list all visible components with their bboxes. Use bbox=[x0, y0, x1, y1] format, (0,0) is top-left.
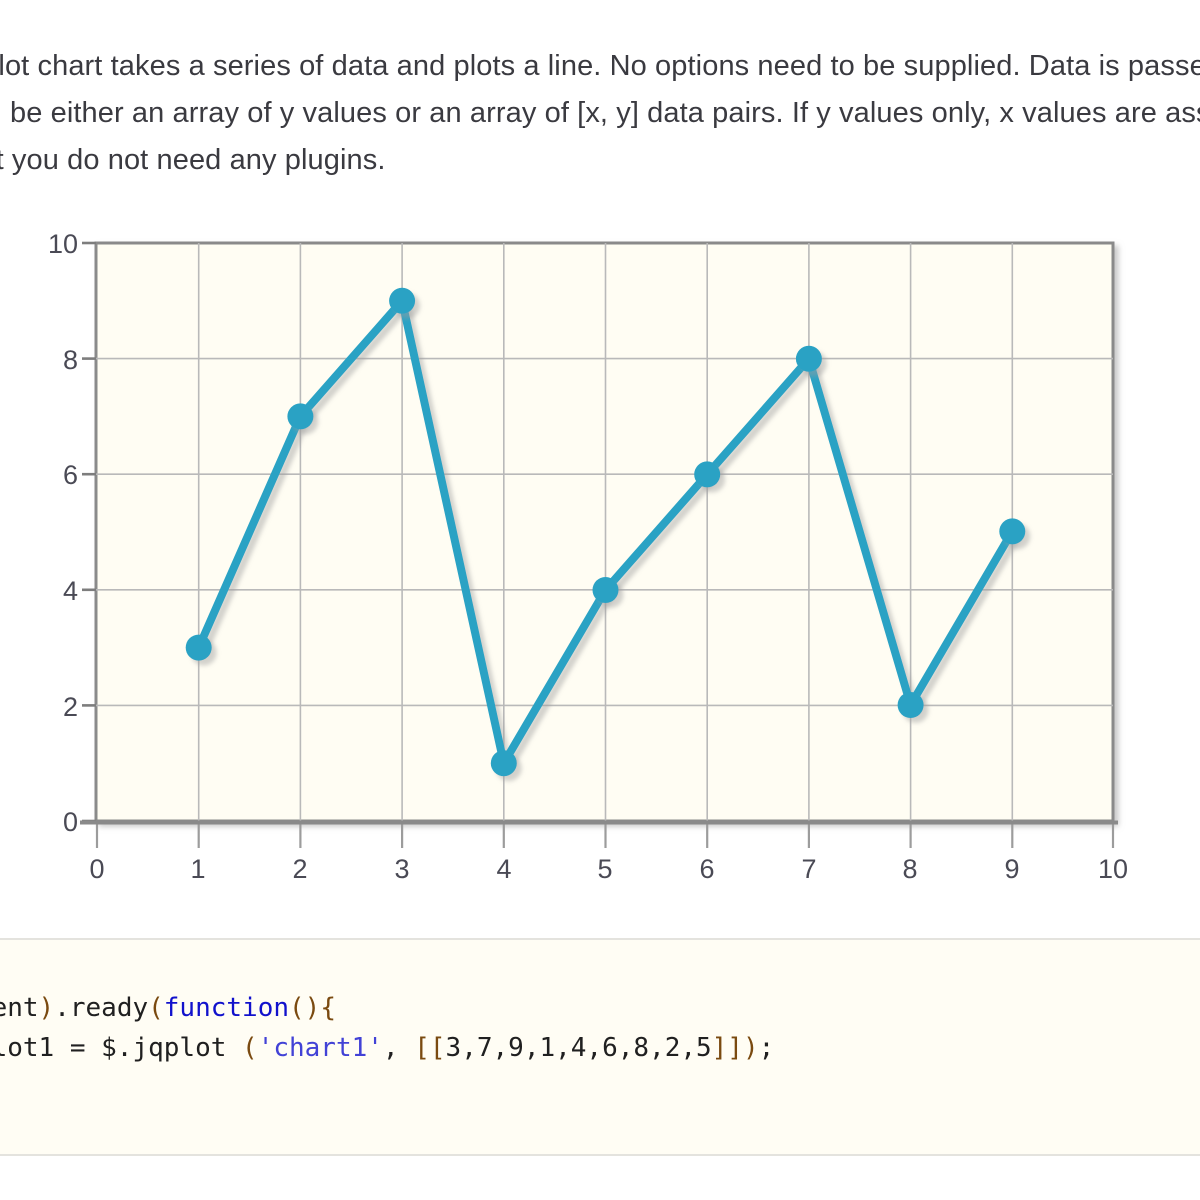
y-tick-label-10: 10 bbox=[10, 229, 78, 260]
code-source: $(document).ready(function(){ var plot1 … bbox=[0, 988, 1200, 1068]
data-point bbox=[694, 461, 720, 487]
data-point bbox=[186, 635, 212, 661]
y-tick-label-0: 0 bbox=[10, 807, 78, 838]
x-tick-label-1: 1 bbox=[168, 854, 228, 885]
chart-container: 10 8 6 4 2 0 0 1 2 3 4 5 6 7 8 9 10 bbox=[0, 200, 1200, 938]
y-tick-label-4: 4 bbox=[10, 576, 78, 607]
code-token: $(document bbox=[0, 993, 39, 1023]
code-line: var plot1 = $.jqplot ('chart1', [[3,7,9,… bbox=[0, 1028, 1200, 1068]
code-token: ]]) bbox=[712, 1033, 759, 1063]
x-tick-label-2: 2 bbox=[270, 854, 330, 885]
y-tick-label-2: 2 bbox=[10, 692, 78, 723]
x-tick-label-9: 9 bbox=[982, 854, 1042, 885]
intro-paragraph: The most basic jqPlot chart takes a seri… bbox=[0, 43, 1200, 184]
data-point bbox=[898, 692, 924, 718]
code-token: ; bbox=[759, 1033, 775, 1063]
code-token: function bbox=[164, 993, 289, 1023]
data-point bbox=[287, 403, 313, 429]
code-token: , bbox=[383, 1033, 414, 1063]
data-point bbox=[389, 288, 415, 314]
code-token: { bbox=[320, 993, 336, 1023]
x-tick-label-6: 6 bbox=[677, 854, 737, 885]
code-token: () bbox=[289, 993, 320, 1023]
x-axis-ticks bbox=[97, 821, 1113, 848]
data-point bbox=[491, 750, 517, 776]
x-tick-label-0: 0 bbox=[67, 854, 127, 885]
y-tick-label-8: 8 bbox=[10, 345, 78, 376]
x-tick-label-8: 8 bbox=[880, 854, 940, 885]
intro-paragraph-region: The most basic jqPlot chart takes a seri… bbox=[0, 0, 1200, 200]
x-tick-label-10: 10 bbox=[1083, 854, 1143, 885]
data-point bbox=[593, 577, 619, 603]
x-tick-label-3: 3 bbox=[372, 854, 432, 885]
code-token: 'chart1' bbox=[258, 1033, 383, 1063]
x-tick-label-5: 5 bbox=[575, 854, 635, 885]
line-chart bbox=[0, 200, 1200, 938]
code-token: ) bbox=[39, 993, 55, 1023]
code-token: var plot1 = $.jqplot bbox=[0, 1033, 242, 1063]
y-axis-ticks bbox=[82, 243, 96, 821]
code-line: $(document).ready(function(){ bbox=[0, 988, 1200, 1028]
code-token: .ready bbox=[54, 993, 148, 1023]
y-tick-label-6: 6 bbox=[10, 460, 78, 491]
x-tick-label-7: 7 bbox=[779, 854, 839, 885]
code-token: ( bbox=[148, 993, 164, 1023]
data-point bbox=[999, 518, 1025, 544]
code-token: 3,7,9,1,4,6,8,2,5 bbox=[446, 1033, 712, 1063]
code-block[interactable]: $(document).ready(function(){ var plot1 … bbox=[0, 938, 1200, 1156]
code-token: ( bbox=[242, 1033, 258, 1063]
x-tick-label-4: 4 bbox=[474, 854, 534, 885]
page-footer-space bbox=[0, 1156, 1200, 1200]
data-point bbox=[796, 346, 822, 372]
code-token: [[ bbox=[414, 1033, 445, 1063]
